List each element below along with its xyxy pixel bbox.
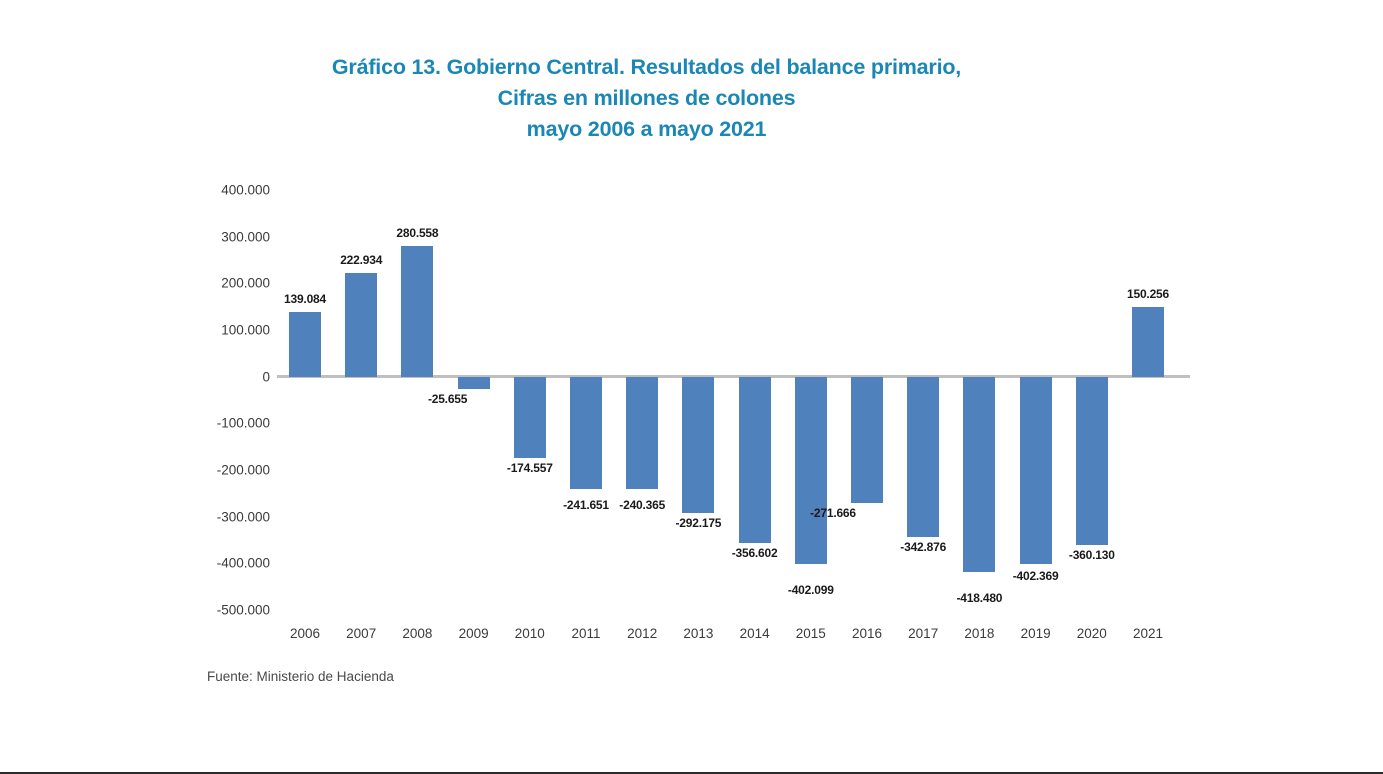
x-axis-tick: 2011 [571, 626, 600, 641]
y-axis-tick: -300.000 [150, 509, 270, 524]
source-note: Fuente: Ministerio de Hacienda [207, 669, 394, 684]
bar-chart: 400.000300.000200.000100.0000-100.000-20… [0, 0, 1383, 774]
y-axis-tick: 300.000 [150, 229, 270, 244]
x-axis-tick: 2013 [683, 626, 713, 641]
x-axis-tick: 2021 [1133, 626, 1163, 641]
x-axis-tick: 2015 [796, 626, 826, 641]
y-axis: 400.000300.000200.000100.0000-100.000-20… [150, 0, 270, 774]
y-axis-tick: -400.000 [150, 556, 270, 571]
x-axis: 2006200720082009201020112012201320142015… [277, 0, 1190, 774]
y-axis-tick: 200.000 [150, 276, 270, 291]
x-axis-tick: 2016 [852, 626, 882, 641]
x-axis-tick: 2006 [290, 626, 320, 641]
y-axis-tick: -200.000 [150, 463, 270, 478]
y-axis-tick: -500.000 [150, 603, 270, 618]
y-axis-tick: 100.000 [150, 323, 270, 338]
y-axis-tick: -100.000 [150, 416, 270, 431]
x-axis-tick: 2018 [964, 626, 994, 641]
y-axis-tick: 400.000 [150, 183, 270, 198]
x-axis-tick: 2014 [740, 626, 770, 641]
x-axis-tick: 2007 [346, 626, 376, 641]
x-axis-tick: 2008 [402, 626, 432, 641]
x-axis-tick: 2019 [1021, 626, 1051, 641]
chart-page: Gráfico 13. Gobierno Central. Resultados… [0, 0, 1383, 774]
x-axis-tick: 2009 [459, 626, 489, 641]
x-axis-tick: 2012 [627, 626, 657, 641]
y-axis-tick: 0 [150, 369, 270, 384]
x-axis-tick: 2010 [515, 626, 545, 641]
x-axis-tick: 2020 [1077, 626, 1107, 641]
x-axis-tick: 2017 [908, 626, 938, 641]
